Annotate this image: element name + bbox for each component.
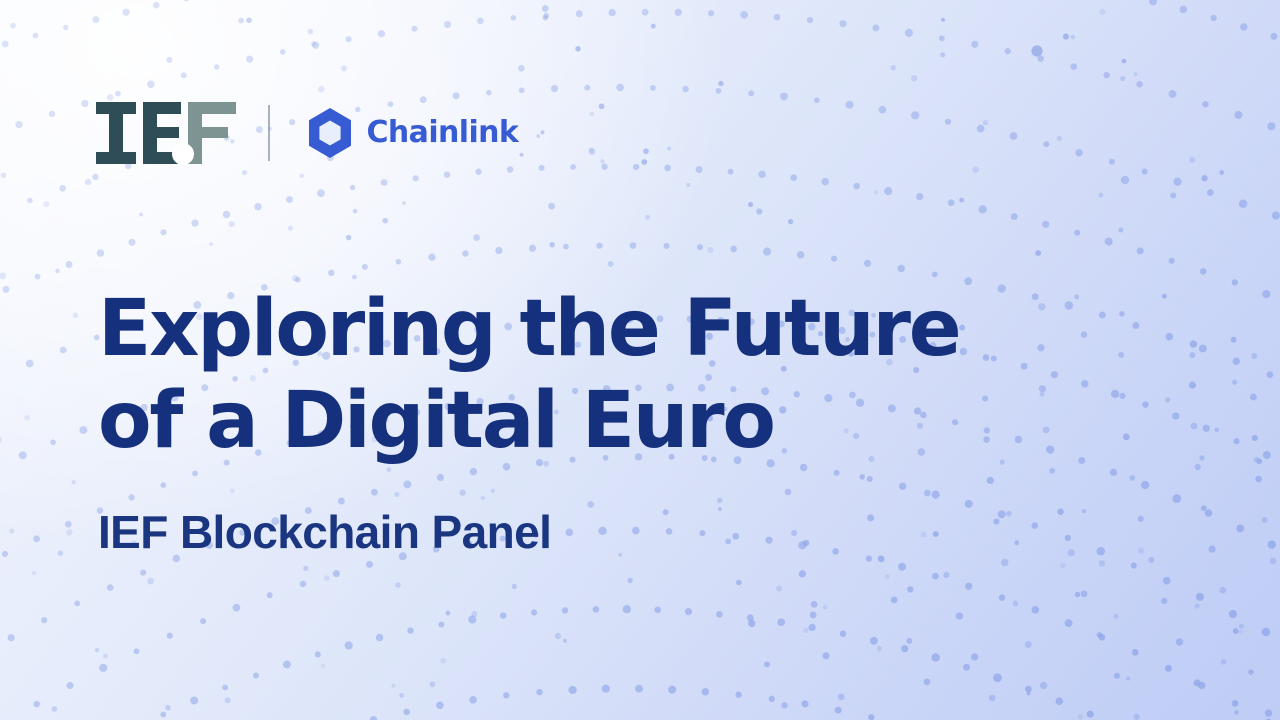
brand-logo-row: Chainlink <box>96 100 518 166</box>
chainlink-logo[interactable]: Chainlink <box>306 107 519 159</box>
ief-logo[interactable] <box>96 102 236 164</box>
page-title-line-1: Exploring the Future <box>98 284 1148 374</box>
page-subtitle: IEF Blockchain Panel <box>98 505 1148 559</box>
page-title-line-2: of a Digital Euro <box>98 376 1148 466</box>
title-block: Exploring the Future of a Digital Euro I… <box>98 284 1148 559</box>
chainlink-hexagon-icon <box>306 107 354 159</box>
chainlink-wordmark: Chainlink <box>367 118 519 148</box>
slide-canvas: Chainlink Exploring the Future of a Digi… <box>0 0 1280 720</box>
logo-divider <box>268 105 270 161</box>
